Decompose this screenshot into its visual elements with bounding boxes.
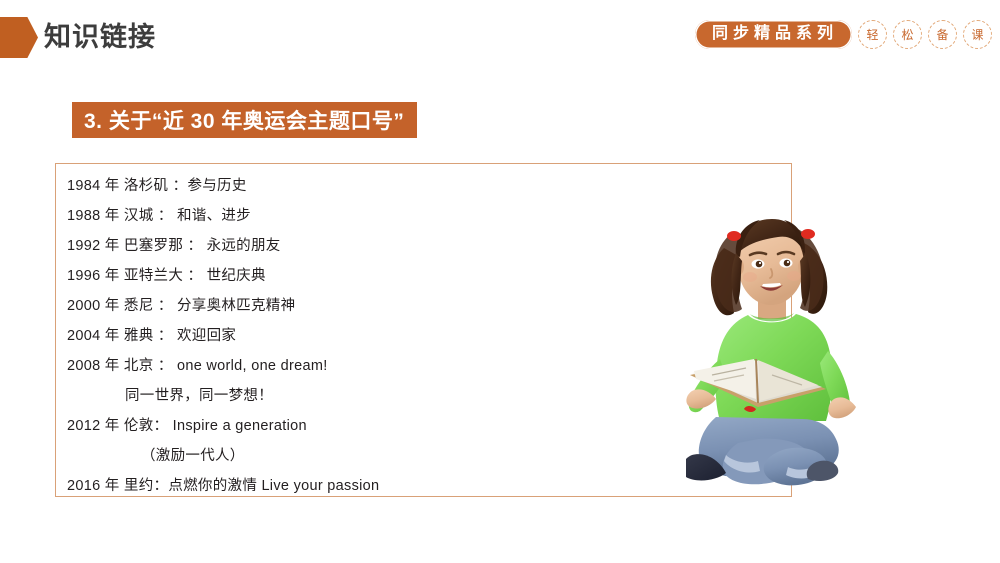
- slogan-line: 2004 年 雅典 ： 欢迎回家: [67, 321, 782, 351]
- slogan-line: 1992 年 巴塞罗那 ： 永远的朋友: [67, 231, 782, 261]
- slogan-line: 2000 年 悉尼 ： 分享奥林匹克精神: [67, 291, 782, 321]
- brand-series-badge: 同步精品系列: [695, 20, 852, 49]
- hexagon-arrow-icon: [0, 17, 38, 58]
- slogan-line: 2008 年 北京 ： one world, one dream!: [67, 351, 782, 381]
- girl-reading-book-photo: [686, 193, 936, 513]
- slogan-line: 1996 年 亚特兰大 ： 世纪庆典: [67, 261, 782, 291]
- slogan-line: 1984 年 洛杉矶 ：参与历史: [67, 171, 782, 201]
- page-title: 知识链接: [44, 19, 156, 55]
- slogan-list: 1984 年 洛杉矶 ：参与历史1988 年 汉城 ： 和谐、进步1992 年 …: [67, 171, 782, 501]
- section-banner: 3. 关于“近 30 年奥运会主题口号”: [72, 102, 417, 138]
- brand-circle-2: 松: [893, 20, 922, 49]
- slogan-line: 1988 年 汉城 ： 和谐、进步: [67, 201, 782, 231]
- brand-circle-1: 轻: [858, 20, 887, 49]
- slogan-line: 2012 年 伦敦： Inspire a generation: [67, 411, 782, 441]
- slogan-line: （激励一代人）: [67, 441, 782, 471]
- slogan-line: 2016 年 里约：点燃你的激情 Live your passion: [67, 471, 782, 501]
- brand-circle-3: 备: [928, 20, 957, 49]
- slide-header: 知识链接 同步精品系列 轻 松 备 课: [0, 0, 1000, 80]
- brand-cluster: 同步精品系列 轻 松 备 课: [695, 20, 992, 49]
- slogan-line: 同一世界，同一梦想！: [67, 381, 782, 411]
- brand-circle-4: 课: [963, 20, 992, 49]
- content-box: 1984 年 洛杉矶 ：参与历史1988 年 汉城 ： 和谐、进步1992 年 …: [55, 163, 792, 497]
